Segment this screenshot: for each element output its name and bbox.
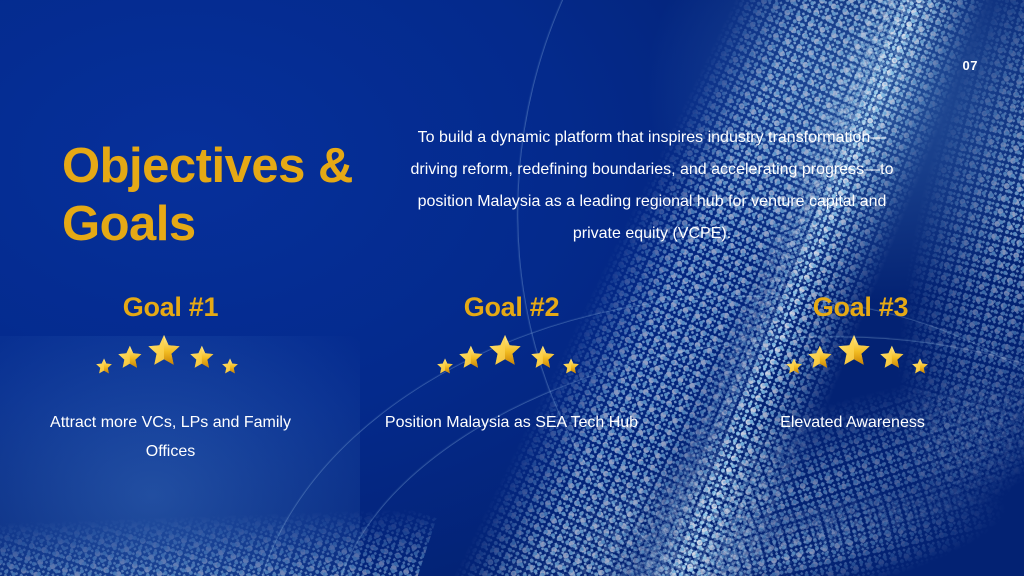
slide-canvas: 07 Objectives & Goals To build a dynamic…	[0, 0, 1024, 576]
goal-3-description: Elevated Awareness	[703, 408, 1003, 437]
goal-3-heading: Goal #3	[813, 292, 908, 322]
background-decoration	[0, 0, 1024, 576]
particle-ribbon-2	[568, 0, 1024, 576]
page-number: 07	[963, 58, 978, 73]
goal-1-heading: Goal #1	[123, 292, 218, 322]
goal-1-description: Attract more VCs, LPs and Family Offices	[46, 408, 296, 466]
five-stars-icon	[786, 332, 936, 382]
goal-card-1: Goal #1	[0, 292, 341, 466]
intro-paragraph: To build a dynamic platform that inspire…	[396, 122, 908, 250]
particle-ribbon-1	[391, 0, 1009, 576]
particle-ribbon-3	[775, 0, 1024, 576]
five-stars-icon	[437, 332, 587, 382]
page-title: Objectives & Goals	[62, 137, 392, 253]
goal-2-heading: Goal #2	[464, 292, 559, 322]
goals-row: Goal #1	[0, 292, 1024, 466]
light-arc-3	[454, 0, 1024, 576]
goal-card-2: Goal #2 Position Malaysia as SEA Tech Hu…	[341, 292, 682, 466]
goal-2-description: Position Malaysia as SEA Tech Hub	[378, 408, 646, 437]
five-stars-icon	[96, 332, 246, 382]
goal-card-3: Goal #3 Elevated Awareness	[690, 292, 1024, 466]
